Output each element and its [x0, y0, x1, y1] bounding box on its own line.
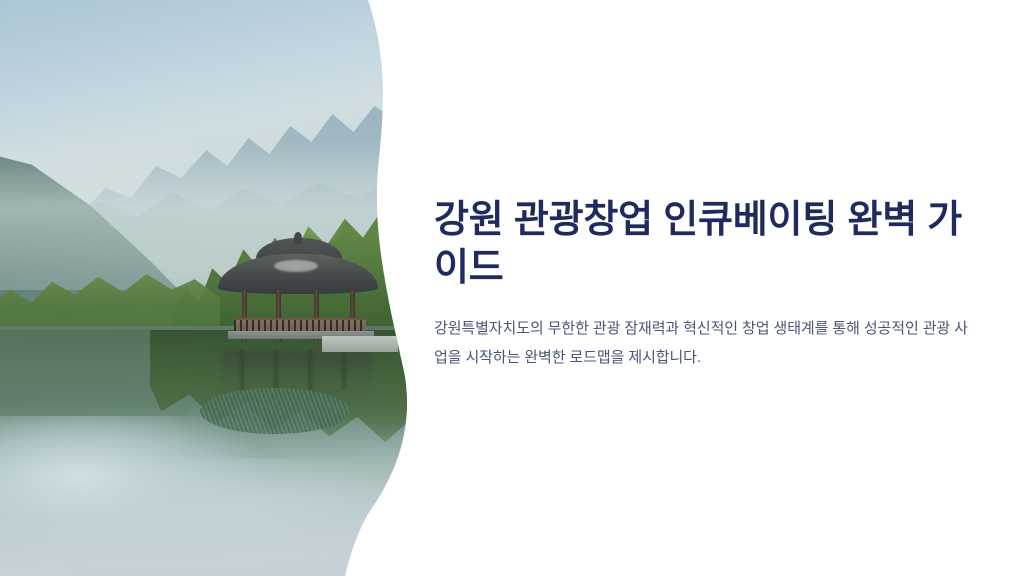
- pavilion-posts-reflection: [240, 350, 358, 390]
- korean-pavilion-lake-photo: [0, 0, 420, 576]
- pavilion-finial: [294, 232, 302, 244]
- pavilion-railing-bars: [234, 320, 366, 331]
- title-slide: 강원 관광창업 인큐베이팅 완벽 가이드 강원특별자치도의 무한한 관광 잠재력…: [0, 0, 1024, 576]
- traditional-pavilion: [218, 236, 378, 346]
- hero-image-panel: [0, 0, 420, 576]
- pavilion-stone-base: [322, 336, 398, 352]
- slide-text-block: 강원 관광창업 인큐베이팅 완벽 가이드 강원특별자치도의 무한한 관광 잠재력…: [434, 196, 970, 372]
- lily-pad-patch: [200, 388, 350, 434]
- page-title: 강원 관광창업 인큐베이팅 완벽 가이드: [434, 196, 970, 292]
- water-reflection-sky-2: [120, 458, 420, 576]
- pavilion-roof-shine: [274, 260, 318, 272]
- slide-subtitle: 강원특별자치도의 무한한 관광 잠재력과 혁신적인 창업 생태계를 통해 성공적…: [434, 314, 968, 372]
